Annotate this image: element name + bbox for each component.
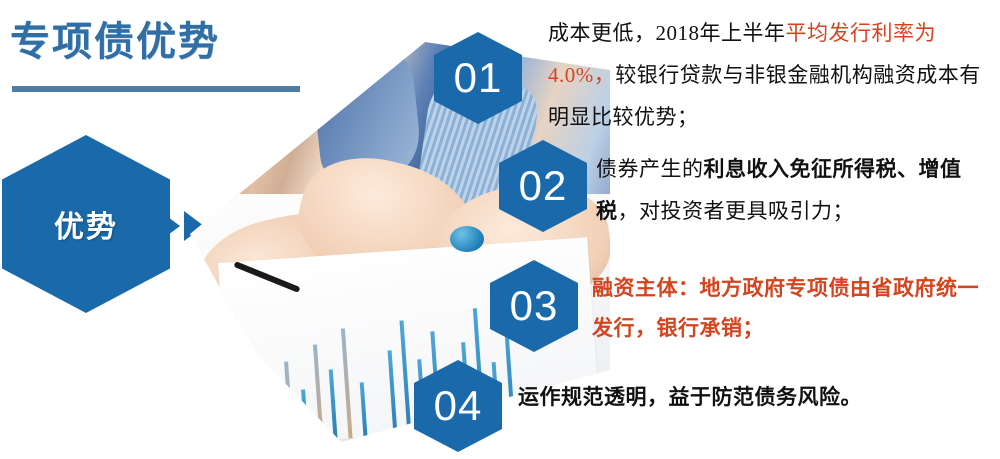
item-text-02: 债券产生的利息收入免征所得税、增值税，对投资者更具吸引力； <box>596 148 996 232</box>
text-run-3: ，对投资者更具吸引力； <box>618 199 855 223</box>
title-block: 专项债优势 <box>10 14 310 104</box>
item-text-03: 融资主体：地方政府专项债由省政府统一发行，银行承销； <box>592 268 992 348</box>
hexagon-shape: 04 <box>414 360 502 452</box>
advantage-hexagon-badge: 优势 <box>2 135 170 313</box>
item-number-label-03: 03 <box>510 285 559 327</box>
hexagon-shape: 01 <box>434 32 522 124</box>
advantage-hexagon-label: 优势 <box>54 202 118 246</box>
item-text-01: 成本更低，2018年上半年平均发行利率为4.0%，较银行贷款与非银金融机构融资成… <box>548 12 988 138</box>
arrow-triangle-1-icon <box>160 211 180 241</box>
hexagon-shape: 优势 <box>2 135 170 313</box>
text-run-2: 平均发行利率 <box>786 21 915 45</box>
text-run-1: 融资主体：地方政府专项债由省政府统一发行，银行承销； <box>592 276 979 340</box>
item-number-hexagon-03: 03 <box>490 260 578 352</box>
hexagon-shape: 03 <box>490 260 578 352</box>
item-number-hexagon-04: 04 <box>414 360 502 452</box>
item-number-hexagon-01: 01 <box>434 32 522 124</box>
title-underline-divider <box>12 86 300 92</box>
text-run-1: 成本更低，2018年上半年 <box>548 21 786 45</box>
item-text-04: 运作规范透明，益于防范债务风险。 <box>518 376 988 418</box>
page-title: 专项债优势 <box>10 14 310 70</box>
item-number-label-01: 01 <box>454 57 503 99</box>
item-number-label-02: 02 <box>519 165 568 207</box>
item-number-label-04: 04 <box>434 385 483 427</box>
hexagon-shape: 02 <box>499 140 587 232</box>
photo-glass <box>207 364 269 426</box>
text-run-1: 债券产生的 <box>596 157 704 181</box>
item-number-hexagon-02: 02 <box>499 140 587 232</box>
text-run-1: 运作规范透明，益于防范债务风险。 <box>518 385 862 409</box>
